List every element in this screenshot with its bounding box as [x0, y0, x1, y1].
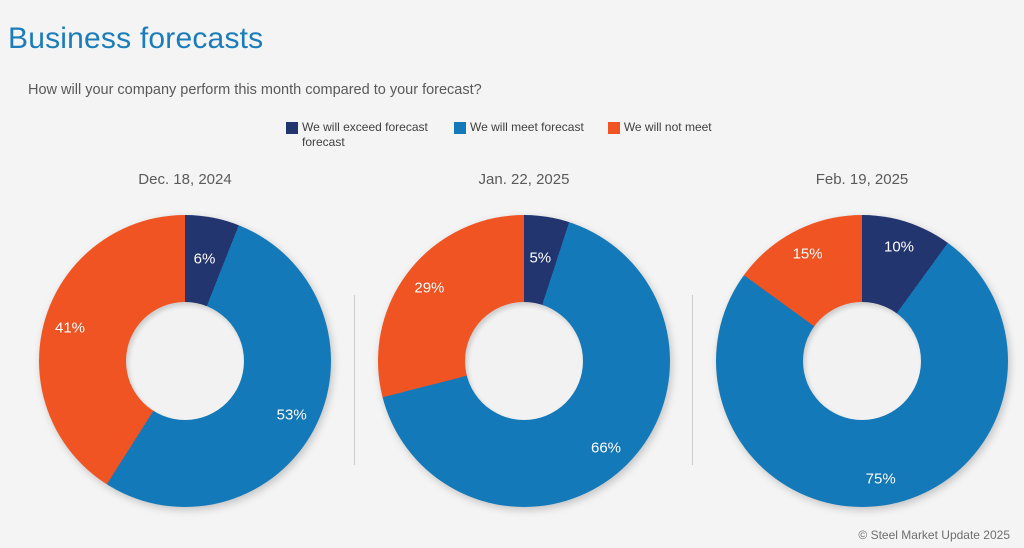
legend-item-label: We will exceed forecast forecast [302, 120, 430, 150]
slice-percentage-label: 10% [884, 239, 914, 256]
donut-chart-panel-dec-2024: Dec. 18, 2024 6%53%41% [16, 165, 354, 520]
slice-percentage-label: 41% [55, 319, 85, 336]
donut-hole [126, 302, 244, 420]
meet-forecast-swatch-icon [454, 122, 466, 134]
donut-chart-jan-2025[interactable]: 5%66%29% [378, 215, 670, 507]
donut-chart-panel-feb-2025: Feb. 19, 2025 10%75%15% [693, 165, 1024, 520]
donut-chart-dec-2024[interactable]: 6%53%41% [39, 215, 331, 507]
slice-percentage-label: 29% [414, 279, 444, 296]
slice-percentage-label: 53% [277, 407, 307, 424]
donut-chart-title: Feb. 19, 2025 [693, 171, 1024, 188]
exceed-forecast-swatch-icon [286, 122, 298, 134]
page-title: Business forecasts [8, 22, 263, 56]
panel-divider [354, 295, 355, 465]
slice-percentage-label: 75% [866, 471, 896, 488]
legend-item-label: We will meet forecast [470, 120, 584, 135]
legend-item-meet-forecast[interactable]: We will meet forecast [454, 120, 584, 135]
business-forecasts-slide: Business forecasts How will your company… [0, 0, 1024, 548]
slice-percentage-label: 15% [793, 246, 823, 263]
donut-chart-feb-2025[interactable]: 10%75%15% [716, 215, 1008, 507]
panel-divider [692, 295, 693, 465]
slice-percentage-label: 5% [529, 250, 551, 267]
legend-item-not-meet-forecast[interactable]: We will not meet [608, 120, 712, 135]
legend-item-label: We will not meet [624, 120, 712, 135]
slice-percentage-label: 66% [591, 440, 621, 457]
legend-item-exceed-forecast[interactable]: We will exceed forecast forecast [286, 120, 430, 150]
slice-percentage-label: 6% [194, 250, 216, 267]
not-meet-forecast-swatch-icon [608, 122, 620, 134]
copyright-credit: © Steel Market Update 2025 [858, 528, 1010, 542]
chart-legend: We will exceed forecast forecast We will… [286, 120, 736, 150]
donut-hole [465, 302, 583, 420]
chart-question-subtitle: How will your company perform this month… [28, 82, 482, 98]
donut-charts-row: Dec. 18, 2024 6%53%41% Jan. 22, 2025 5%6… [0, 165, 1024, 520]
donut-chart-title: Jan. 22, 2025 [355, 171, 693, 188]
donut-hole [803, 302, 921, 420]
donut-chart-title: Dec. 18, 2024 [16, 171, 354, 188]
donut-chart-panel-jan-2025: Jan. 22, 2025 5%66%29% [355, 165, 693, 520]
